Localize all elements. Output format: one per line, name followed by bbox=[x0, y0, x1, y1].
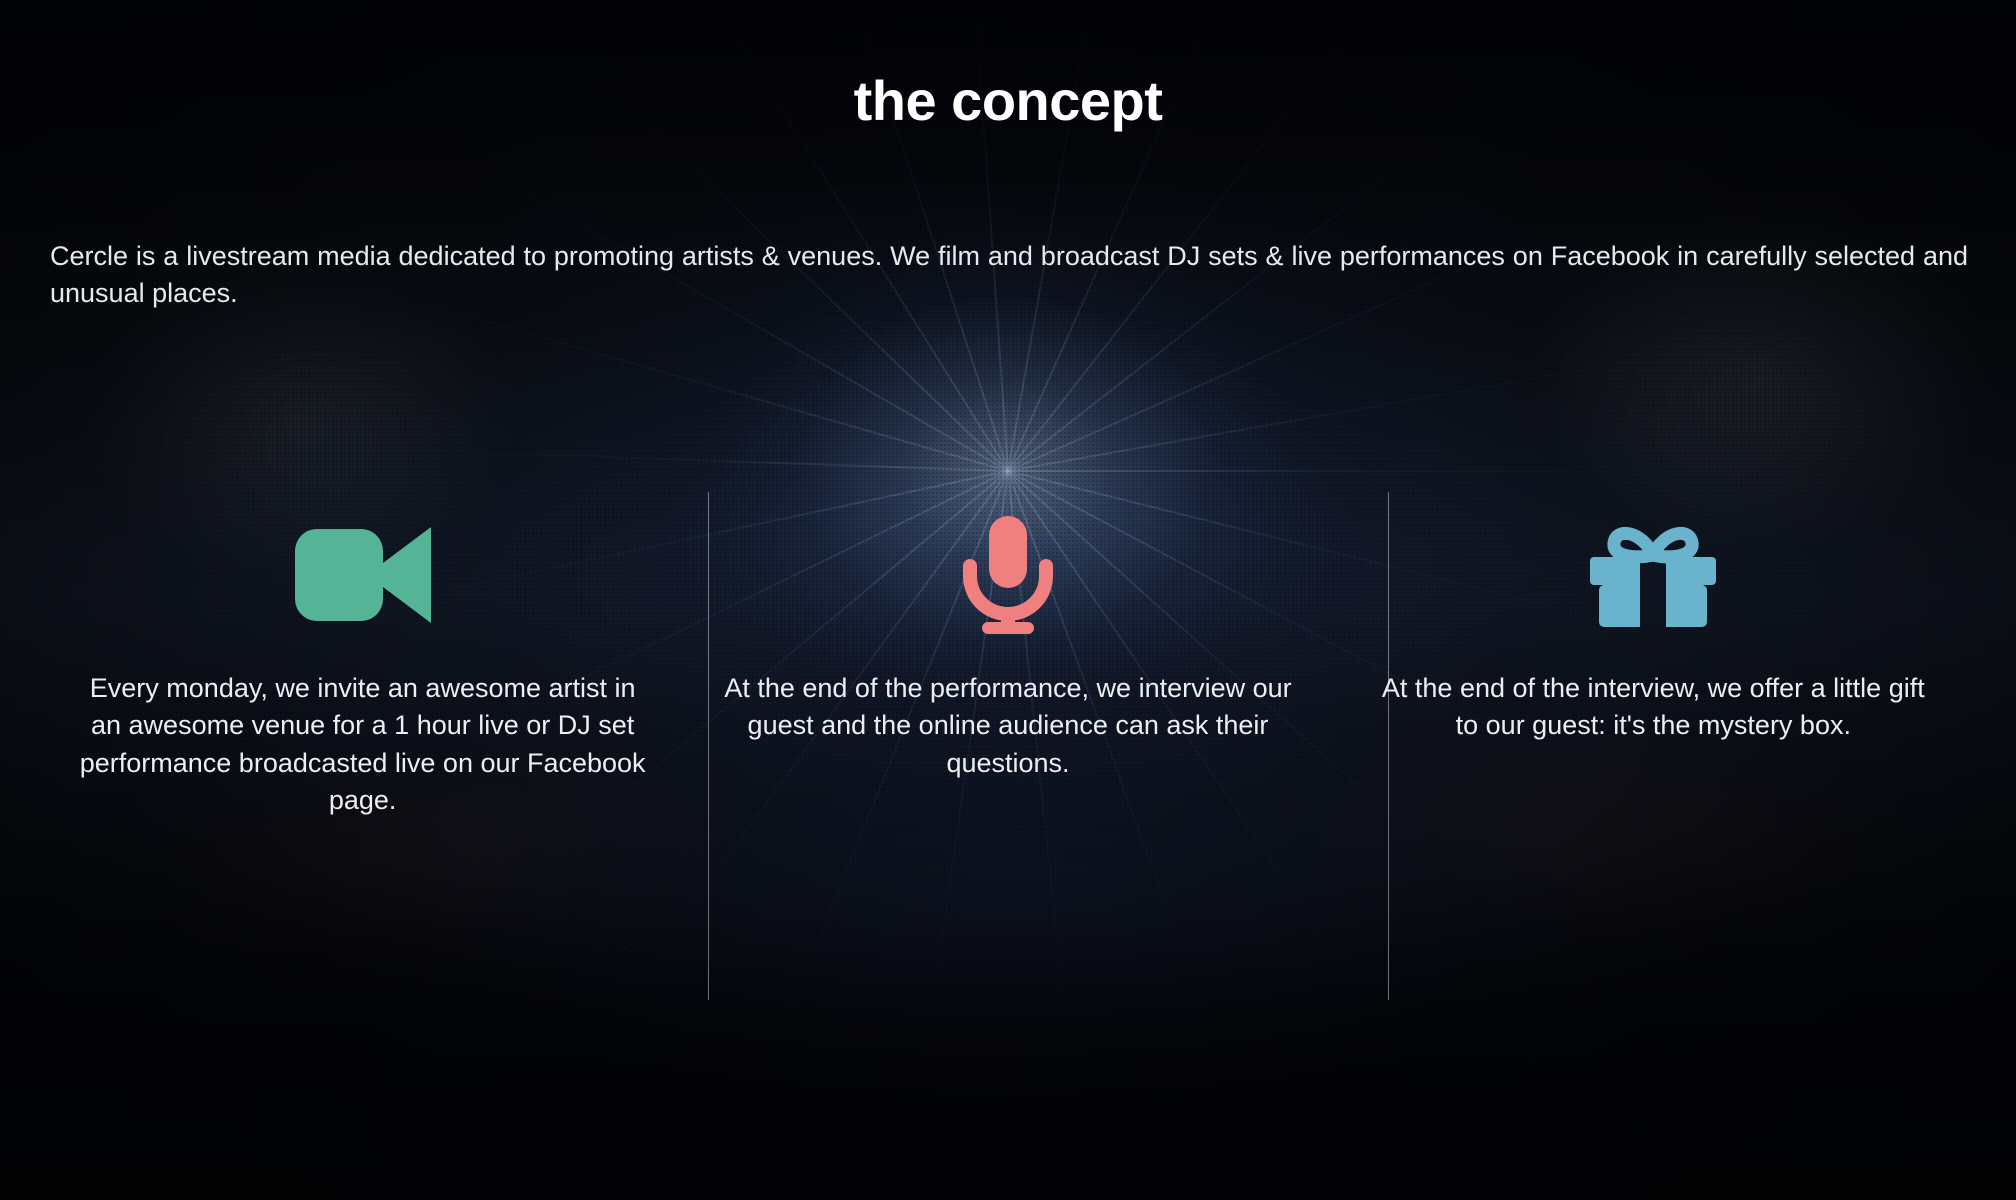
page-title: the concept bbox=[0, 70, 2016, 132]
microphone-icon bbox=[960, 516, 1056, 634]
feature-column-microphone: At the end of the performance, we interv… bbox=[685, 480, 1330, 1000]
feature-column-video: Every monday, we invite an awesome artis… bbox=[40, 480, 685, 1000]
intro-text: Cercle is a livestream media dedicated t… bbox=[50, 241, 1968, 308]
microphone-icon-wrap bbox=[960, 480, 1056, 670]
video-camera-icon-wrap bbox=[295, 480, 431, 670]
concept-section: the concept Cercle is a livestream media… bbox=[0, 0, 2016, 1200]
intro-paragraph: Cercle is a livestream media dedicated t… bbox=[50, 238, 1968, 313]
video-camera-icon bbox=[295, 523, 431, 627]
gift-icon bbox=[1590, 523, 1716, 627]
feature-text-microphone: At the end of the performance, we interv… bbox=[723, 670, 1293, 782]
section-content: the concept Cercle is a livestream media… bbox=[0, 0, 2016, 1200]
feature-text-video: Every monday, we invite an awesome artis… bbox=[78, 670, 648, 819]
gift-icon-wrap bbox=[1590, 480, 1716, 670]
feature-columns: Every monday, we invite an awesome artis… bbox=[40, 480, 1976, 1000]
feature-column-gift: At the end of the interview, we offer a … bbox=[1331, 480, 1976, 1000]
feature-text-gift: At the end of the interview, we offer a … bbox=[1368, 670, 1938, 745]
